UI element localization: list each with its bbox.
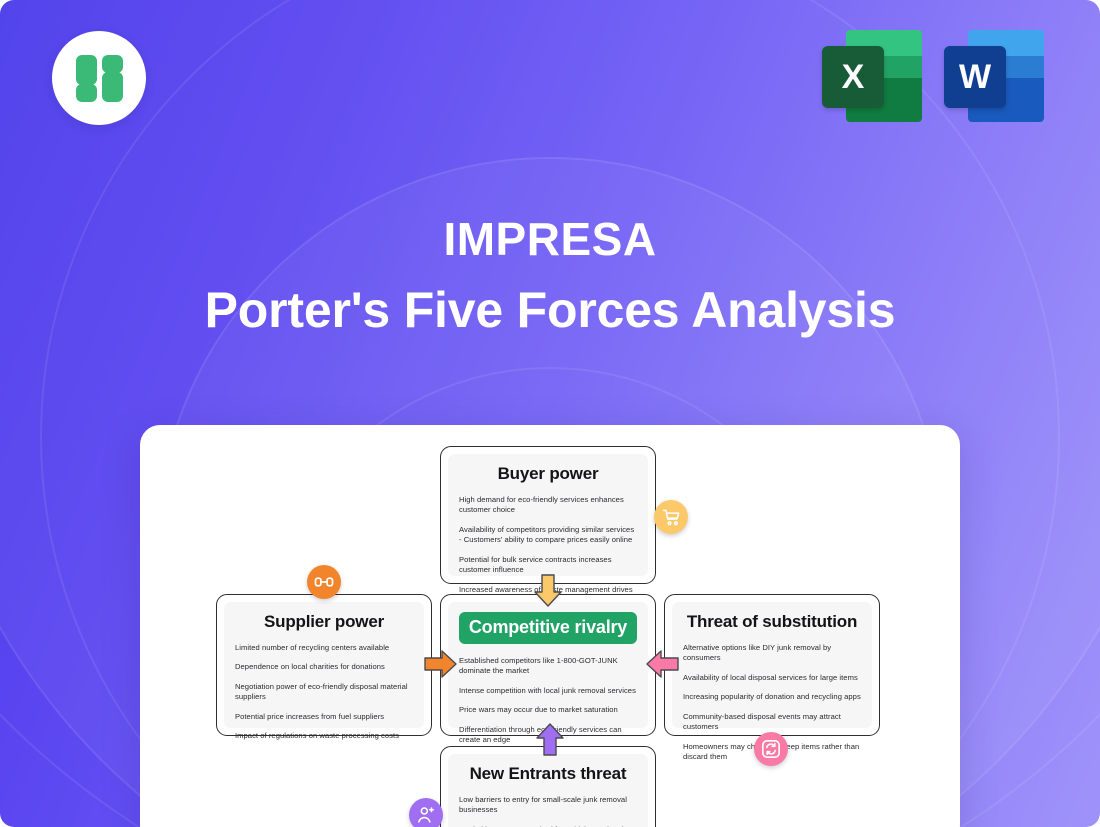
force-point: Alternative options like DIY junk remova… xyxy=(683,643,861,664)
link-chain-icon[interactable] xyxy=(307,565,341,599)
force-title-competitive-rivalry: Competitive rivalry xyxy=(459,612,637,644)
force-points-supplier-power: Limited number of recycling centers avai… xyxy=(235,643,413,742)
force-box-threat-of-substitution[interactable]: Threat of substitution Alternative optio… xyxy=(664,594,880,736)
refresh-sync-icon[interactable] xyxy=(754,732,788,766)
force-point: Community-based disposal events may attr… xyxy=(683,712,861,733)
arrow-left-icon xyxy=(645,648,679,680)
force-point: Impact of regulations on waste processin… xyxy=(235,731,413,741)
force-point: High demand for eco-friendly services en… xyxy=(459,495,637,516)
force-title-supplier-power: Supplier power xyxy=(235,612,413,632)
force-title-buyer-power: Buyer power xyxy=(459,464,637,484)
force-point: Intense competition with local junk remo… xyxy=(459,686,637,696)
force-point: Availability of competitors providing si… xyxy=(459,525,637,546)
force-point: Established competitors like 1-800-GOT-J… xyxy=(459,656,637,677)
arrow-down-icon xyxy=(532,574,564,608)
arrow-right-icon xyxy=(424,648,458,680)
force-point: Availability of local disposal services … xyxy=(683,673,861,683)
force-point: Low barriers to entry for small-scale ju… xyxy=(459,795,637,816)
force-points-new-entrants-threat: Low barriers to entry for small-scale ju… xyxy=(459,795,637,827)
force-box-supplier-power[interactable]: Supplier power Limited number of recycli… xyxy=(216,594,432,736)
force-title-threat-of-substitution: Threat of substitution xyxy=(683,612,861,632)
force-point: Dependence on local charities for donati… xyxy=(235,662,413,672)
arrow-up-icon xyxy=(534,722,566,756)
force-point: Negotiation power of eco-friendly dispos… xyxy=(235,682,413,703)
force-point: Potential price increases from fuel supp… xyxy=(235,712,413,722)
force-title-new-entrants-threat: New Entrants threat xyxy=(459,764,637,784)
add-user-icon[interactable] xyxy=(409,798,443,827)
force-point: Price wars may occur due to market satur… xyxy=(459,705,637,715)
force-box-buyer-power[interactable]: Buyer power High demand for eco-friendly… xyxy=(440,446,656,584)
shopping-cart-icon[interactable] xyxy=(654,500,688,534)
force-point: Increasing popularity of donation and re… xyxy=(683,692,861,702)
force-point: Limited number of recycling centers avai… xyxy=(235,643,413,653)
slide-canvas: X W IMPRESA Porter's Five Forces Analysi… xyxy=(0,0,1100,827)
porters-five-forces-diagram: Buyer power High demand for eco-friendly… xyxy=(0,0,1100,827)
force-point: Potential for bulk service contracts inc… xyxy=(459,555,637,576)
force-box-new-entrants-threat[interactable]: New Entrants threat Low barriers to entr… xyxy=(440,746,656,827)
force-box-competitive-rivalry[interactable]: Competitive rivalry Established competit… xyxy=(440,594,656,736)
